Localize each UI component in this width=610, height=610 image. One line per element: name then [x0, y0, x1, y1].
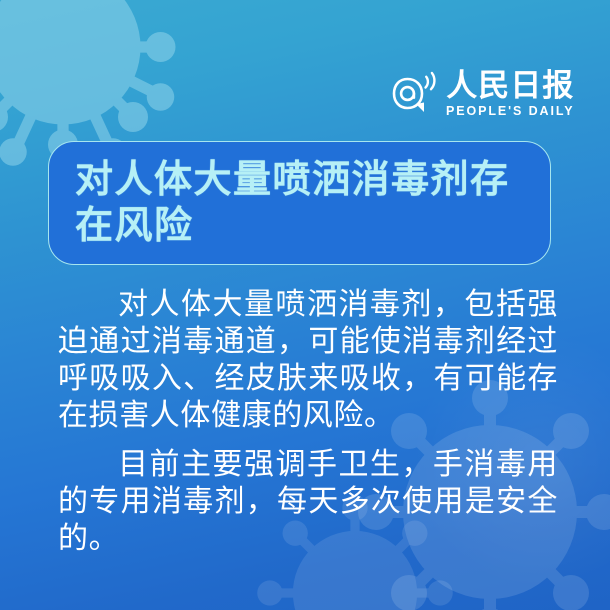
headline-panel: 对人体大量喷洒消毒剂存在风险	[48, 141, 551, 265]
paragraph: 目前主要强调手卫生，手消毒用的专用消毒剂，每天多次使用是安全的。	[58, 446, 558, 557]
brand-name-en: PEOPLE'S DAILY	[446, 104, 574, 118]
page-title: 对人体大量喷洒消毒剂存在风险	[49, 157, 550, 250]
paragraph: 对人体大量喷洒消毒剂，包括强迫通过消毒通道，可能使消毒剂经过呼吸吸入、经皮肤来吸…	[58, 286, 558, 434]
brand-name-cn: 人民日报	[446, 70, 574, 102]
body-copy: 对人体大量喷洒消毒剂，包括强迫通过消毒通道，可能使消毒剂经过呼吸吸入、经皮肤来吸…	[58, 286, 558, 569]
poster-canvas: 人民日报 PEOPLE'S DAILY 对人体大量喷洒消毒剂存在风险 对人体大量…	[0, 0, 610, 610]
brand-logo: 人民日报 PEOPLE'S DAILY	[392, 68, 574, 120]
at-speech-bubble-signal-icon	[392, 68, 440, 120]
